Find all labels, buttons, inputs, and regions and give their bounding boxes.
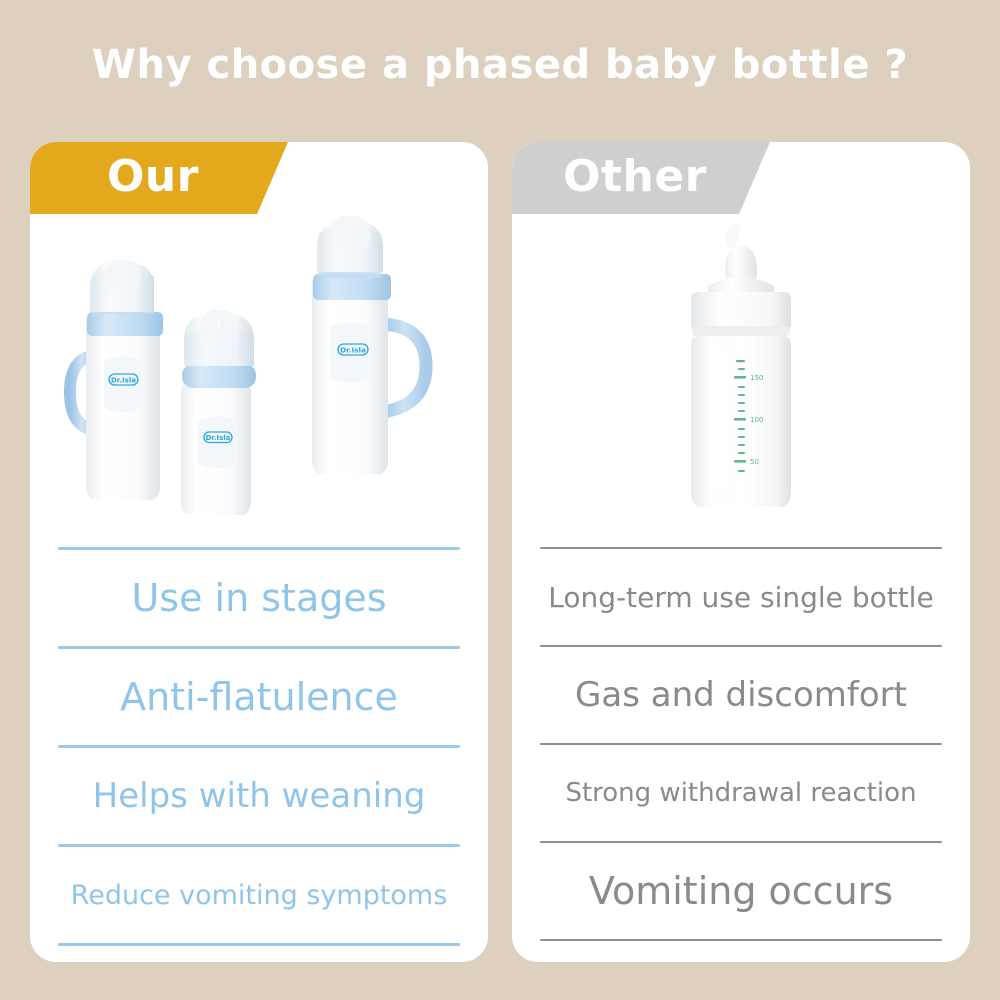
badge-our-label: Our	[107, 151, 199, 202]
svg-text:150: 150	[750, 374, 763, 382]
badge-other: Other	[512, 142, 770, 214]
divider	[540, 939, 942, 941]
card-our: Our	[30, 142, 488, 962]
list-item: Gas and discomfort	[540, 647, 942, 743]
list-item: Vomiting occurs	[540, 843, 942, 939]
list-item: Reduce vomiting symptoms	[58, 847, 460, 943]
badge-other-label: Other	[563, 151, 707, 202]
bottle-plain: 150 100 50	[691, 223, 791, 507]
card-other: Other	[512, 142, 970, 962]
bottle-small: Dr.Isla	[181, 309, 256, 515]
svg-text:Dr.Isla: Dr.Isla	[340, 346, 366, 355]
list-item: Use in stages	[58, 550, 460, 646]
list-item: Helps with weaning	[58, 748, 460, 844]
other-product-image: 150 100 50	[512, 214, 970, 554]
svg-text:Dr.Isla: Dr.Isla	[111, 376, 136, 385]
svg-text:50: 50	[750, 458, 759, 466]
other-drawback-list: Long-term use single bottle Gas and disc…	[540, 547, 942, 941]
svg-text:Dr.Isla: Dr.Isla	[206, 434, 231, 442]
list-item: Strong withdrawal reaction	[540, 745, 942, 841]
svg-text:100: 100	[750, 416, 763, 424]
divider	[58, 943, 460, 946]
page-title: Why choose a phased baby bottle ?	[0, 42, 1000, 88]
our-product-image: Dr.Isla Dr.Isla	[30, 214, 488, 554]
list-item: Anti-flatulence	[58, 649, 460, 745]
badge-our: Our	[30, 142, 288, 214]
bottle-large: Dr.Isla	[312, 216, 426, 475]
list-item: Long-term use single bottle	[540, 549, 942, 645]
bottle-medium: Dr.Isla	[70, 259, 163, 500]
our-benefit-list: Use in stages Anti-flatulence Helps with…	[58, 547, 460, 946]
